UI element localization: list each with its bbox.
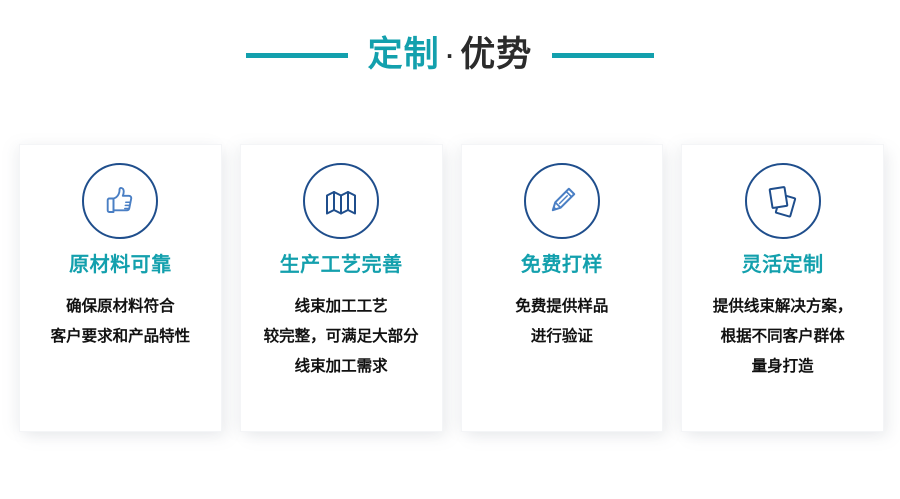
section-header: 定制 · 优势 [0, 24, 900, 86]
advantage-card-description-line: 根据不同客户群体 [690, 321, 876, 351]
advantage-card-description: 线束加工工艺 较完整，可满足大部分 线束加工需求 [248, 291, 434, 381]
page-title-dark: 优势 [460, 38, 532, 73]
advantage-card[interactable]: 免费打样 免费提供样品 进行验证 [462, 145, 663, 431]
page-title-separator: · [440, 46, 461, 66]
advantage-card-title: 灵活定制 [742, 253, 824, 275]
advantage-card-description-line: 进行验证 [469, 321, 655, 351]
advantage-card-description-line: 提供线束解决方案， [690, 291, 876, 321]
page-title-accent: 定制 [368, 38, 440, 73]
pencil-icon [524, 163, 600, 239]
folded-map-icon [303, 163, 379, 239]
page-title: 定制 · 优势 [368, 38, 533, 73]
advantage-card-description-line: 线束加工需求 [248, 351, 434, 381]
advantage-card-title: 免费打样 [521, 253, 603, 275]
advantage-card-title: 原材料可靠 [69, 253, 172, 275]
stacked-sheets-icon [745, 163, 821, 239]
advantage-card-description-line: 确保原材料符合 [27, 291, 213, 321]
advantage-card-description: 提供线束解决方案， 根据不同客户群体 量身打造 [690, 291, 876, 381]
advantage-card[interactable]: 生产工艺完善 线束加工工艺 较完整，可满足大部分 线束加工需求 [241, 145, 442, 431]
header-rule-left [246, 53, 348, 58]
advantage-card-description: 确保原材料符合 客户要求和产品特性 [27, 291, 213, 351]
advantage-card-description-line: 客户要求和产品特性 [27, 321, 213, 351]
advantages-section: 定制 · 优势 原材料可靠 确保原材料符合 客户要求和产品特性 [0, 0, 900, 499]
advantage-card[interactable]: 原材料可靠 确保原材料符合 客户要求和产品特性 [20, 145, 221, 431]
advantage-card-description-line: 较完整，可满足大部分 [248, 321, 434, 351]
advantage-card-description-line: 量身打造 [690, 351, 876, 381]
advantage-card-title: 生产工艺完善 [280, 253, 403, 275]
advantage-card-description: 免费提供样品 进行验证 [469, 291, 655, 351]
header-rule-right [552, 53, 654, 58]
advantage-card-list: 原材料可靠 确保原材料符合 客户要求和产品特性 生产工艺完善 线束加工工艺 较完… [20, 145, 883, 431]
advantage-card[interactable]: 灵活定制 提供线束解决方案， 根据不同客户群体 量身打造 [682, 145, 883, 431]
thumbs-up-icon [82, 163, 158, 239]
advantage-card-description-line: 线束加工工艺 [248, 291, 434, 321]
advantage-card-description-line: 免费提供样品 [469, 291, 655, 321]
